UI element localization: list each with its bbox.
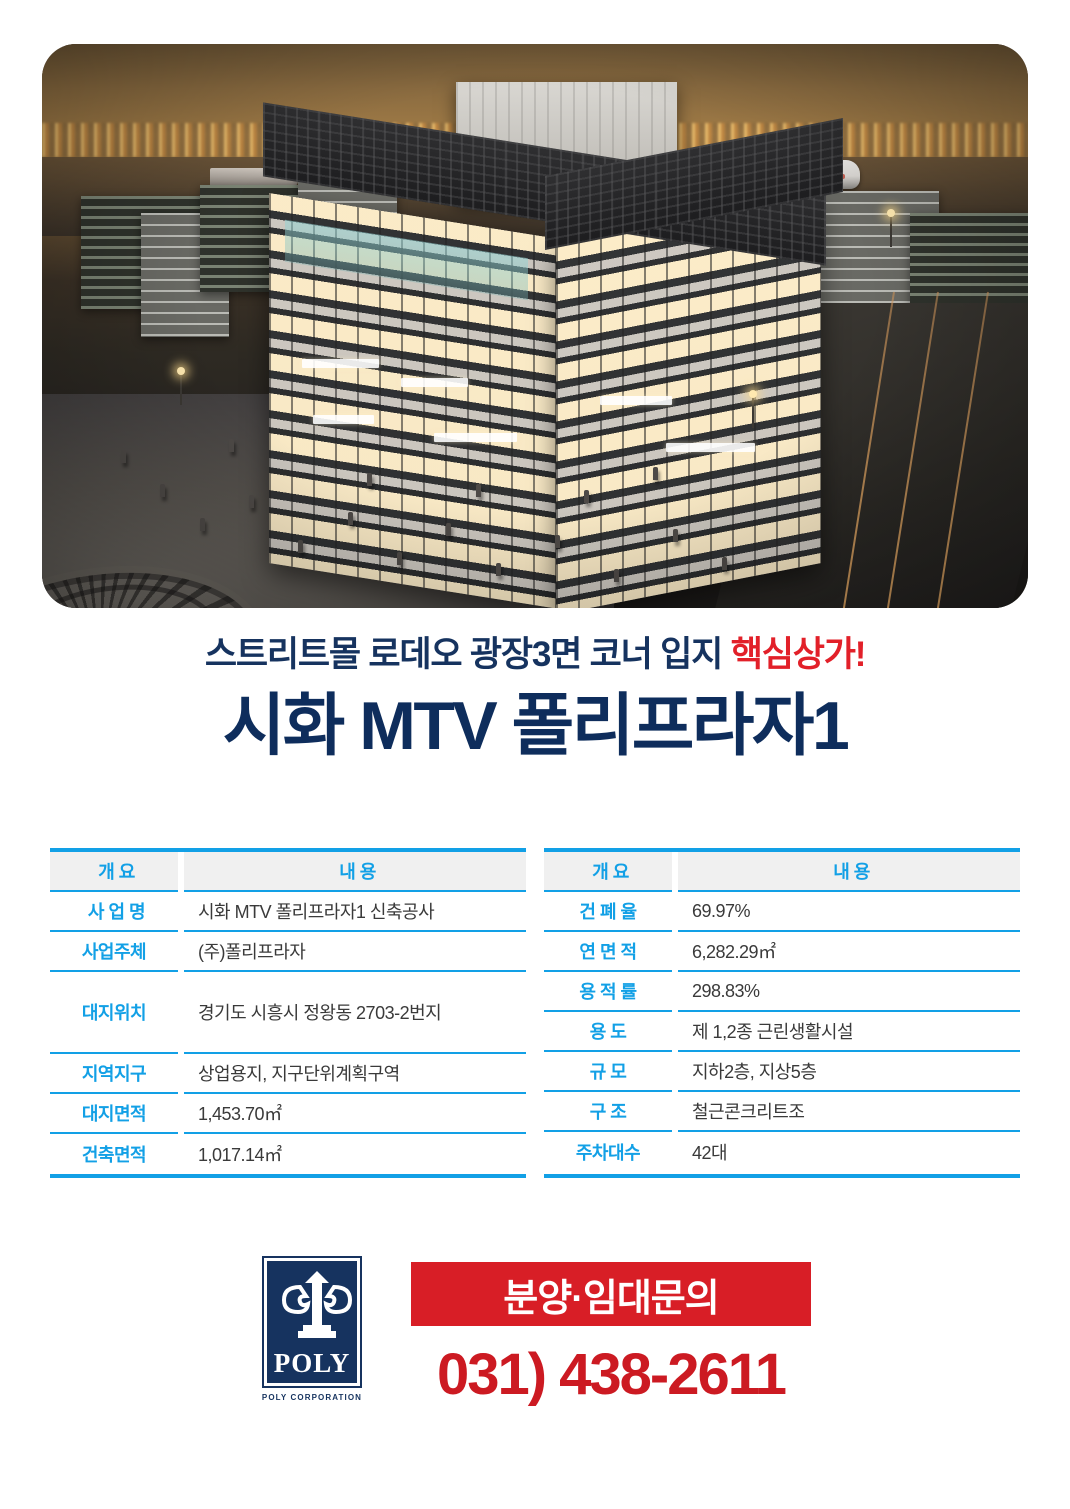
column-header-content: 내 용 — [184, 852, 526, 892]
row-label: 주차대수 — [544, 1132, 672, 1172]
table-header-row: 개 요 내 용 — [50, 852, 526, 892]
table-row: 사 업 명 시화 MTV 폴리프라자1 신축공사 — [50, 892, 526, 932]
row-label: 구 조 — [544, 1092, 672, 1132]
row-value: 상업용지, 지구단위계획구역 — [184, 1054, 526, 1094]
row-label: 사 업 명 — [50, 892, 178, 932]
row-label: 건 폐 율 — [544, 892, 672, 932]
table-row: 규 모 지하2층, 지상5층 — [544, 1052, 1020, 1092]
sales-inquiry-badge[interactable]: 분양·임대문의 — [411, 1262, 811, 1326]
pedestrian-figure — [348, 512, 353, 525]
storefront-sign — [434, 433, 517, 442]
table-row: 건 폐 율 69.97% — [544, 892, 1020, 932]
row-label: 건축면적 — [50, 1134, 178, 1174]
street-lamp-icon — [890, 213, 892, 247]
table-row: 용 적 률 298.83% — [544, 972, 1020, 1012]
row-label: 용 도 — [544, 1012, 672, 1052]
pedestrian-figure — [673, 529, 678, 542]
table-row: 대지면적 1,453.70㎡ — [50, 1094, 526, 1134]
spec-table-left: 개 요 내 용 사 업 명 시화 MTV 폴리프라자1 신축공사 사업주체 (주… — [50, 848, 526, 1178]
row-label: 사업주체 — [50, 932, 178, 972]
storefront-sign — [313, 415, 374, 424]
street-lamp-icon — [180, 371, 182, 405]
headline-block: 스트리트몰 로데오 광장3면 코너 입지 핵심상가! 시화 MTV 폴리프라자1 — [0, 636, 1070, 762]
pedestrian-figure — [653, 467, 658, 480]
row-value: 지하2층, 지상5층 — [678, 1052, 1020, 1092]
row-label: 용 적 률 — [544, 972, 672, 1012]
pedestrian-figure — [555, 535, 560, 548]
column-pillar-icon — [267, 1267, 367, 1343]
row-label: 규 모 — [544, 1052, 672, 1092]
sales-inquiry-label: 분양·임대문의 — [503, 1267, 718, 1322]
row-label: 연 면 적 — [544, 932, 672, 972]
row-value: (주)폴리프라자 — [184, 932, 526, 972]
specifications-section: 개 요 내 용 사 업 명 시화 MTV 폴리프라자1 신축공사 사업주체 (주… — [50, 848, 1020, 1178]
pedestrian-figure — [722, 557, 727, 570]
pedestrian-figure — [121, 450, 126, 463]
column-header-summary: 개 요 — [50, 852, 178, 892]
page-title: 시화 MTV 폴리프라자1 — [0, 691, 1070, 762]
pedestrian-figure — [229, 439, 234, 452]
main-building — [269, 100, 821, 562]
row-value: 경기도 시흥시 정왕동 2703-2번지 — [184, 972, 526, 1054]
logo-frame: POLY — [262, 1256, 362, 1388]
pedestrian-figure — [476, 484, 481, 497]
kicker-line: 스트리트몰 로데오 광장3면 코너 입지 핵심상가! — [0, 636, 1070, 675]
table-row: 사업주체 (주)폴리프라자 — [50, 932, 526, 972]
pedestrian-figure — [367, 473, 372, 486]
kicker-highlight-text: 핵심상가! — [731, 635, 865, 674]
column-header-content: 내 용 — [678, 852, 1020, 892]
pedestrian-figure — [496, 563, 501, 576]
table-row: 지역지구 상업용지, 지구단위계획구역 — [50, 1054, 526, 1094]
row-value: 69.97% — [678, 892, 1020, 932]
row-value: 1,453.70㎡ — [184, 1094, 526, 1134]
row-value: 시화 MTV 폴리프라자1 신축공사 — [184, 892, 526, 932]
logo-field: POLY — [267, 1261, 357, 1383]
kicker-main-text: 스트리트몰 로데오 광장3면 코너 입지 — [205, 635, 731, 674]
contact-phone-number[interactable]: 031) 438-2611 — [411, 1346, 811, 1404]
pedestrian-figure — [397, 552, 402, 565]
table-row: 구 조 철근콘크리트조 — [544, 1092, 1020, 1132]
row-value: 제 1,2종 근린생활시설 — [678, 1012, 1020, 1052]
footer-contact-block: POLY POLY CORPORATION 분양·임대문의 031) 438-2… — [0, 1248, 1070, 1448]
row-value: 298.83% — [678, 972, 1020, 1012]
hero-rendering-image — [42, 44, 1028, 608]
pedestrian-figure — [200, 518, 205, 531]
storefront-sign — [666, 443, 754, 452]
row-value: 철근콘크리트조 — [678, 1092, 1020, 1132]
table-row: 용 도 제 1,2종 근린생활시설 — [544, 1012, 1020, 1052]
pedestrian-figure — [584, 490, 589, 503]
row-value: 42대 — [678, 1132, 1020, 1172]
storefront-sign — [302, 359, 379, 368]
pedestrian-figure — [298, 540, 303, 553]
column-header-summary: 개 요 — [544, 852, 672, 892]
row-label: 대지면적 — [50, 1094, 178, 1134]
table-row: 건축면적 1,017.14㎡ — [50, 1134, 526, 1174]
row-label: 지역지구 — [50, 1054, 178, 1094]
pedestrian-figure — [160, 484, 165, 497]
spec-table-right: 개 요 내 용 건 폐 율 69.97% 연 면 적 6,282.29㎡ 용 적… — [544, 848, 1020, 1178]
storefront-sign — [401, 378, 467, 387]
table-row: 주차대수 42대 — [544, 1132, 1020, 1172]
street-lamp-icon — [752, 394, 754, 428]
logo-tagline: POLY CORPORATION — [262, 1393, 362, 1402]
row-label: 대지위치 — [50, 972, 178, 1054]
table-row: 연 면 적 6,282.29㎡ — [544, 932, 1020, 972]
pedestrian-figure — [614, 569, 619, 582]
row-value: 1,017.14㎡ — [184, 1134, 526, 1174]
pedestrian-figure — [446, 523, 451, 536]
row-value: 6,282.29㎡ — [678, 932, 1020, 972]
table-header-row: 개 요 내 용 — [544, 852, 1020, 892]
poly-corporation-logo: POLY POLY CORPORATION — [258, 1256, 366, 1416]
pedestrian-figure — [249, 495, 254, 508]
storefront-sign — [600, 396, 672, 405]
table-row: 대지위치 경기도 시흥시 정왕동 2703-2번지 — [50, 972, 526, 1054]
logo-wordmark: POLY — [274, 1350, 351, 1377]
